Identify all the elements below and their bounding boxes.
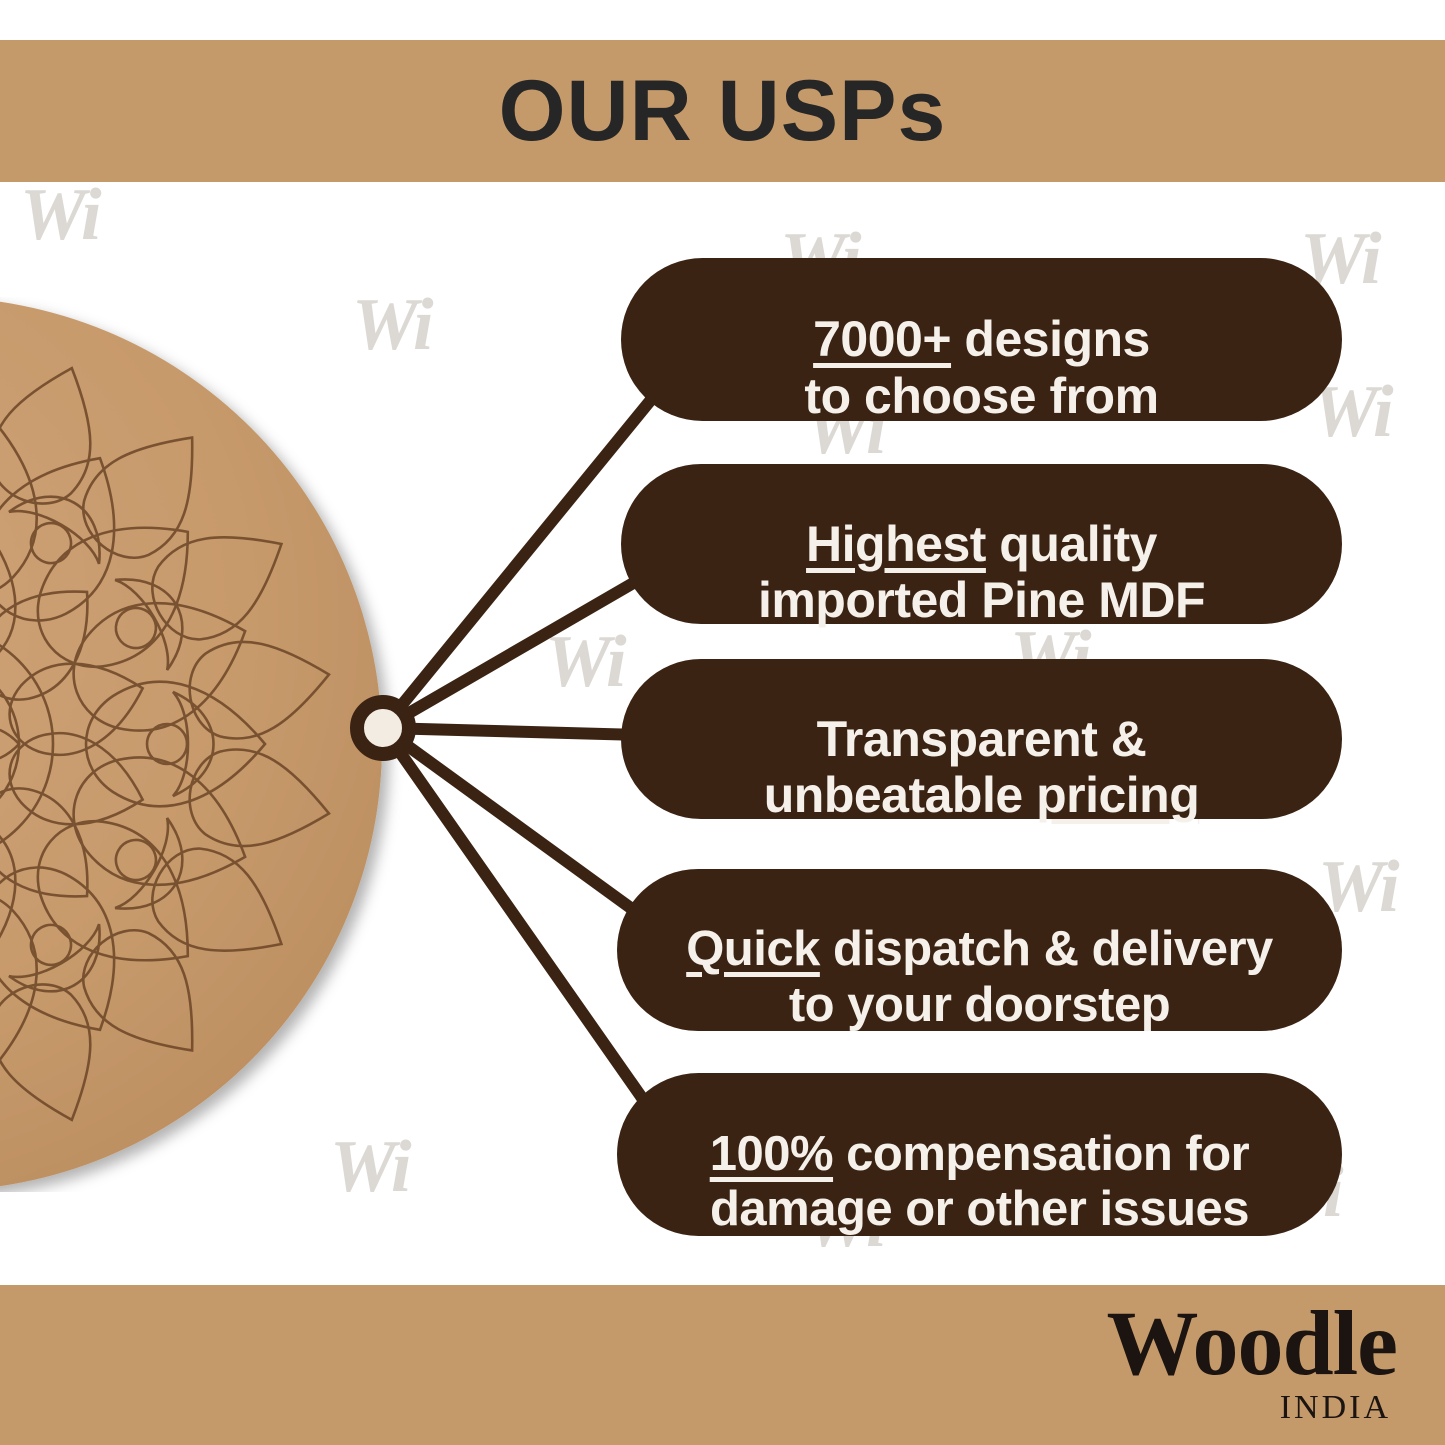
brand-logo-sub: INDIA bbox=[1107, 1389, 1391, 1427]
usp-line2: imported Pine MDF bbox=[758, 572, 1205, 628]
usp-line2-pre: unbeatable bbox=[764, 767, 1036, 823]
usp-line2: to choose from bbox=[804, 368, 1158, 424]
usp-line2: damage or other issues bbox=[710, 1182, 1249, 1236]
hub-node bbox=[350, 695, 416, 761]
usp-text: Highest qualityimported Pine MDF bbox=[758, 459, 1205, 629]
usp-text: 7000+ designsto choose from bbox=[804, 255, 1158, 425]
usp-highlight: 100% bbox=[710, 1127, 833, 1181]
usp-rest: compensation for bbox=[833, 1127, 1249, 1181]
usp-rest: quality bbox=[986, 516, 1157, 572]
usp-highlight: pricing bbox=[1036, 767, 1199, 823]
usp-card-pricing[interactable]: Transparent &unbeatable pricing bbox=[621, 659, 1342, 819]
usp-card-designs[interactable]: 7000+ designsto choose from bbox=[621, 258, 1342, 421]
usp-rest: Transparent & bbox=[817, 711, 1147, 767]
brand-logo[interactable]: Woodle INDIA bbox=[1107, 1300, 1397, 1427]
brand-logo-word: Woodle bbox=[1107, 1300, 1397, 1387]
usp-text: 100% compensation fordamage or other iss… bbox=[710, 1071, 1250, 1237]
poster-canvas: Wi Wi Wi Wi Wi Wi Wi Wi Wi Wi Wi Wi bbox=[0, 0, 1445, 1445]
usp-card-compensation[interactable]: 100% compensation fordamage or other iss… bbox=[617, 1073, 1342, 1236]
usp-rest: designs bbox=[951, 311, 1150, 367]
usp-highlight: Quick bbox=[686, 922, 820, 976]
usp-card-quality[interactable]: Highest qualityimported Pine MDF bbox=[621, 464, 1342, 624]
usp-text: Transparent &unbeatable pricing bbox=[764, 654, 1200, 824]
usp-text: Quick dispatch & deliveryto your doorste… bbox=[686, 867, 1273, 1033]
usp-line2: to your doorstep bbox=[789, 978, 1170, 1032]
usp-highlight: Highest bbox=[806, 516, 986, 572]
usp-highlight: 7000+ bbox=[813, 311, 951, 367]
usp-rest: dispatch & delivery bbox=[820, 922, 1273, 976]
page-title: OUR USPs bbox=[0, 40, 1445, 182]
usp-card-dispatch[interactable]: Quick dispatch & deliveryto your doorste… bbox=[617, 869, 1342, 1031]
